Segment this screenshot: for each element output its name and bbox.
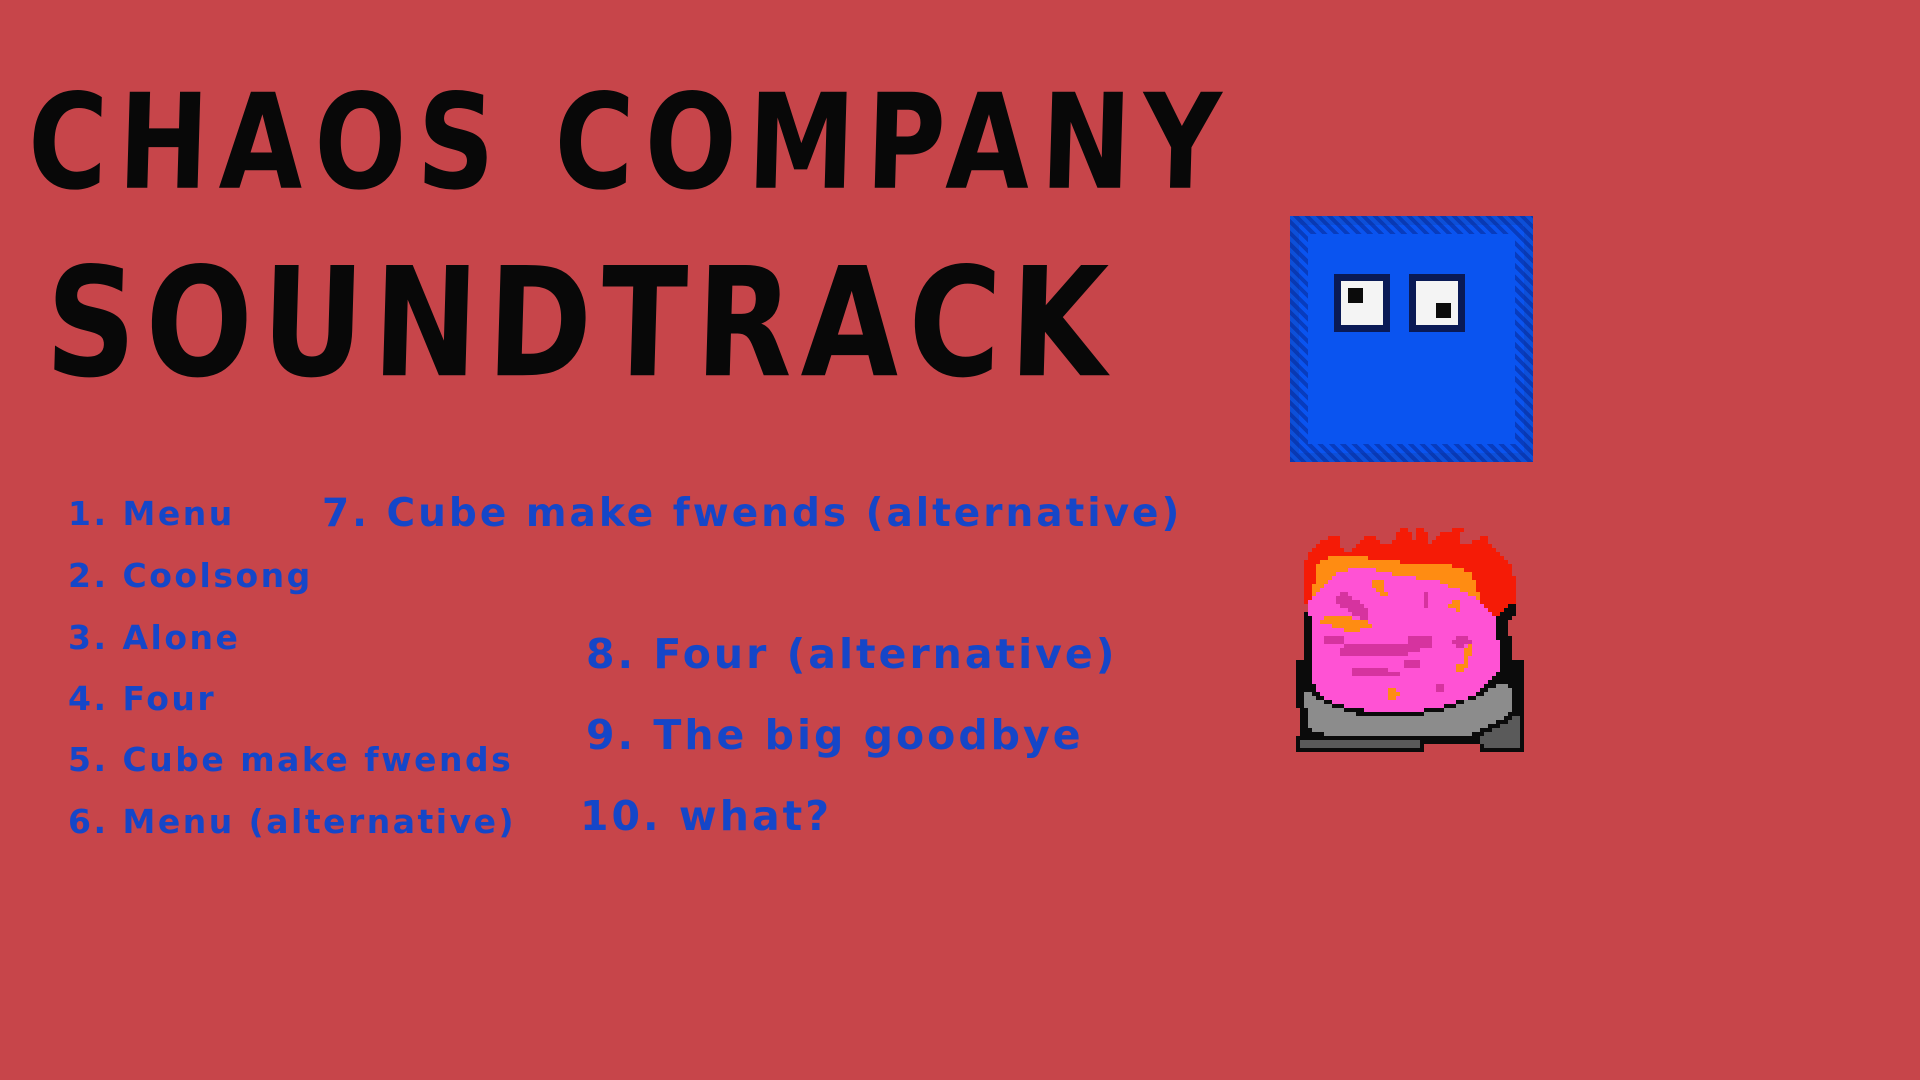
track-item-1: 1. Menu — [68, 497, 235, 530]
page-title-line-2: SOUNDTRACK — [44, 248, 1119, 399]
track-item-6: 6. Menu (alternative) — [68, 805, 516, 838]
cube-left-pupil — [1348, 288, 1363, 303]
track-item-4: 4. Four — [68, 682, 216, 715]
flaming-brain-in-bowl-icon — [1296, 528, 1528, 752]
track-item-5: 5. Cube make fwends — [68, 743, 513, 776]
blue-cube-character-icon — [1290, 216, 1533, 462]
track-item-10: 10. what? — [580, 796, 832, 837]
track-item-2: 2. Coolsong — [68, 559, 313, 592]
cube-right-pupil — [1436, 303, 1451, 318]
cube-left-eye — [1334, 274, 1390, 332]
track-item-3: 3. Alone — [68, 621, 240, 654]
brain-pixel-canvas — [1296, 528, 1528, 752]
track-item-9: 9. The big goodbye — [586, 715, 1084, 756]
page-title-line-1: CHAOS COMPANY — [26, 78, 1233, 210]
soundtrack-poster: CHAOS COMPANY SOUNDTRACK 1. Menu 2. Cool… — [0, 0, 1920, 1080]
track-item-7: 7. Cube make fwends (alternative) — [322, 494, 1182, 533]
cube-dither-border — [1290, 216, 1533, 462]
cube-right-eye — [1409, 274, 1465, 332]
track-item-8: 8. Four (alternative) — [586, 634, 1117, 675]
